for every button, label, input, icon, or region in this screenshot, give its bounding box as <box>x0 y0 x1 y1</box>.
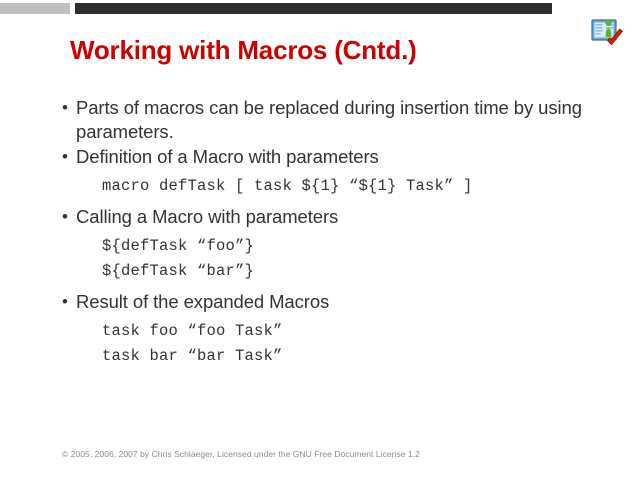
code-line: task foo “foo Task” <box>102 319 624 344</box>
list-item: • Calling a Macro with parameters <box>58 205 624 229</box>
list-item: • Parts of macros can be replaced during… <box>58 96 624 144</box>
bullet-text: Calling a Macro with parameters <box>76 205 624 229</box>
slide-body: • Parts of macros can be replaced during… <box>58 96 624 369</box>
page-title: Working with Macros (Cntd.) <box>70 36 590 65</box>
taskjuggler-logo-icon <box>591 19 625 47</box>
list-item: • Result of the expanded Macros <box>58 290 624 314</box>
bullet-icon: • <box>58 205 76 229</box>
bullet-text: Parts of macros can be replaced during i… <box>76 96 624 144</box>
topbar-dark-segment <box>75 3 552 14</box>
bullet-icon: • <box>58 290 76 314</box>
bullet-icon: • <box>58 145 76 169</box>
bullet-icon: • <box>58 96 76 120</box>
bullet-text: Definition of a Macro with parameters <box>76 145 624 169</box>
slide-canvas: Working with Macros (Cntd.) • Parts of m… <box>0 0 640 480</box>
footer-copyright: © 2005, 2006, 2007 by Chris Schlaeger, L… <box>62 449 420 459</box>
topbar-gray-segment <box>0 3 70 14</box>
code-line: ${defTask “bar”} <box>102 259 624 284</box>
bullet-text: Result of the expanded Macros <box>76 290 624 314</box>
code-line: ${defTask “foo”} <box>102 234 624 259</box>
list-item: • Definition of a Macro with parameters <box>58 145 624 169</box>
code-line: macro defTask [ task ${1} “${1} Task” ] <box>102 174 624 199</box>
code-line: task bar “bar Task” <box>102 344 624 369</box>
